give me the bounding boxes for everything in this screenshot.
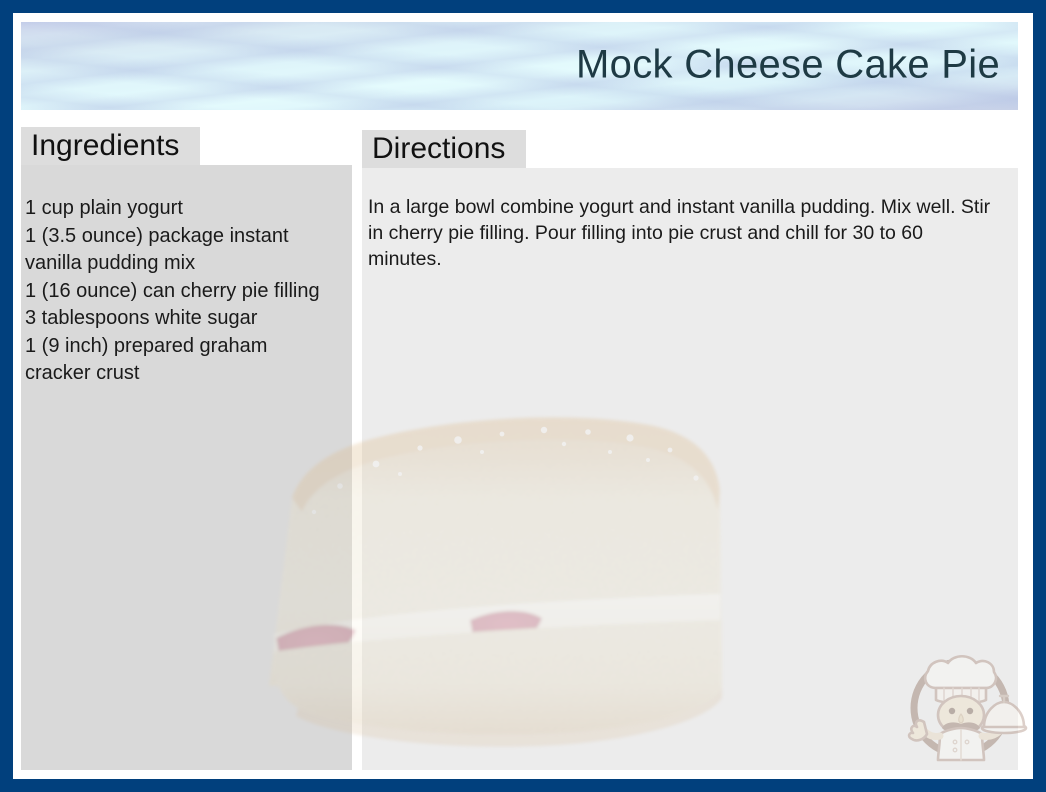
ingredients-panel: 1 cup plain yogurt 1 (3.5 ounce) package… — [21, 165, 352, 770]
header-banner: Mock Cheese Cake Pie — [21, 22, 1018, 110]
directions-text: In a large bowl combine yogurt and insta… — [368, 194, 996, 272]
tab-directions-label: Directions — [372, 134, 505, 164]
recipe-card: Mock Cheese Cake Pie Ingredients 1 cup p… — [0, 0, 1046, 792]
tab-directions[interactable]: Directions — [362, 130, 526, 168]
page-title: Mock Cheese Cake Pie — [576, 43, 1000, 88]
ingredients-list: 1 cup plain yogurt 1 (3.5 ounce) package… — [25, 195, 346, 388]
tab-ingredients-label: Ingredients — [31, 131, 179, 161]
directions-panel: In a large bowl combine yogurt and insta… — [362, 168, 1018, 770]
tab-ingredients[interactable]: Ingredients — [21, 127, 200, 165]
